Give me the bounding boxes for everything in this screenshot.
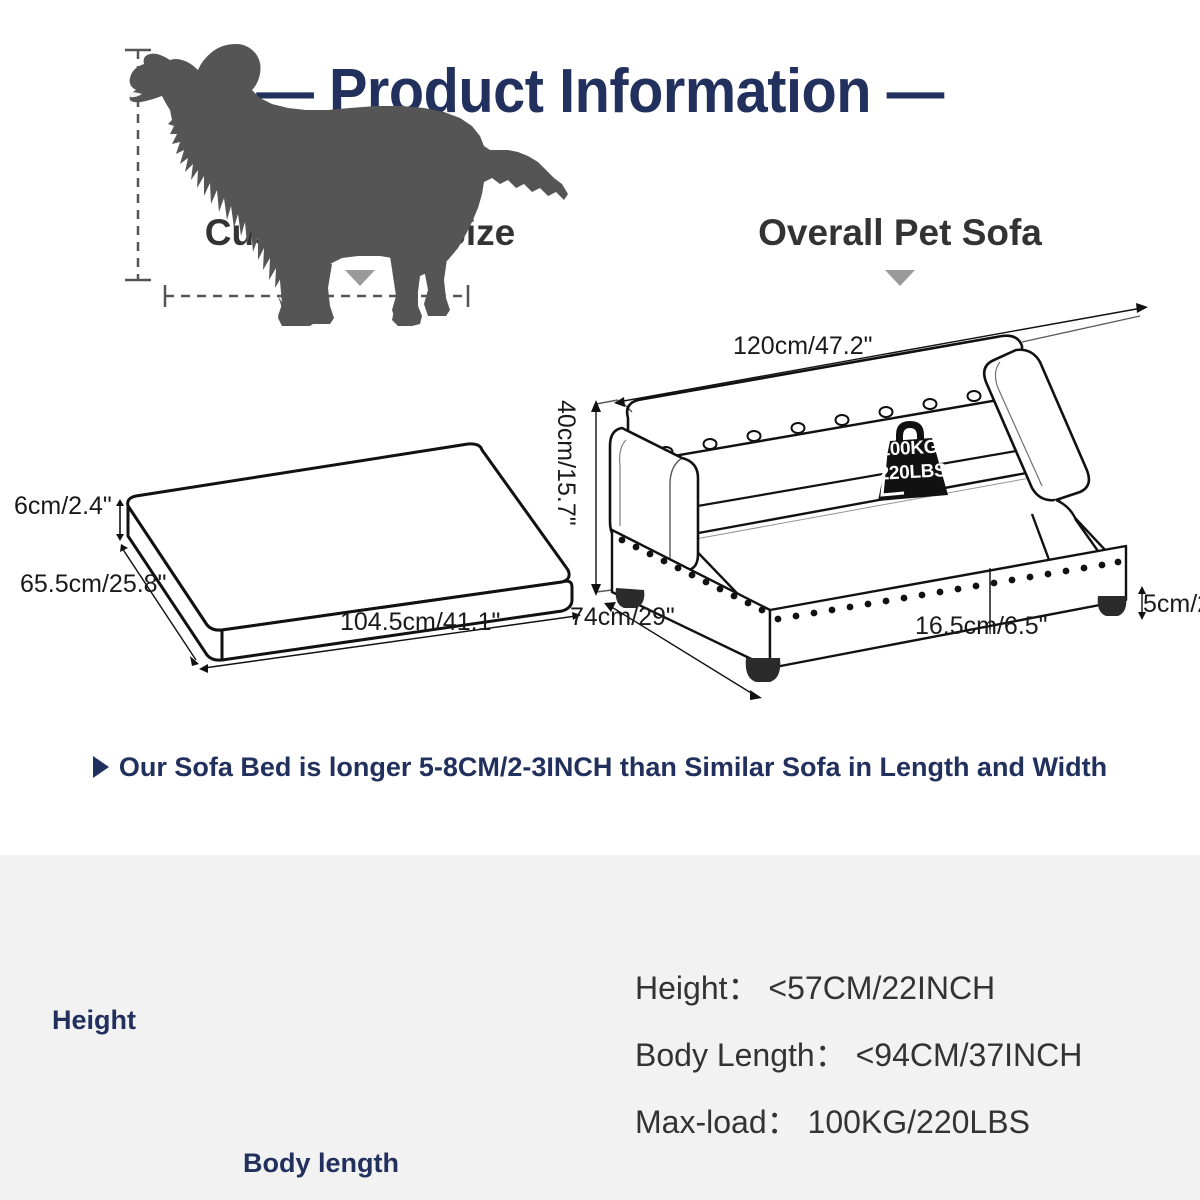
dimension-cushion-width: 65.5cm/25.8" <box>20 570 166 599</box>
dimension-cushion-length: 104.5cm/41.1" <box>340 608 500 637</box>
dimension-sofa-depth: 74cm/29" <box>570 603 675 632</box>
spec-row-max-load: Max-load： 100KG/220LBS <box>635 1089 1195 1156</box>
spec-label-body-length: Body Length： <box>635 1037 847 1073</box>
dimension-sofa-leg-height: 5cm/2" <box>1143 590 1200 619</box>
weight-tag-icon: 100KG/ 220LBS <box>862 413 962 505</box>
promo-banner: Our Sofa Bed is longer 5-8CM/2-3INCH tha… <box>0 752 1200 783</box>
dimension-sofa-top-width: 120cm/47.2" <box>733 332 873 361</box>
spec-value-body-length: <94CM/37INCH <box>856 1037 1083 1073</box>
spec-label-max-load: Max-load： <box>635 1104 799 1140</box>
spec-row-body-length: Body Length： <94CM/37INCH <box>635 1022 1195 1089</box>
dog-height-label: Height <box>52 1005 136 1036</box>
spec-label-height: Height： <box>635 970 760 1006</box>
dimension-sofa-height: 40cm/15.7" <box>551 400 580 526</box>
dimension-sofa-base-height: 16.5cm/6.5" <box>915 612 1048 641</box>
dog-body-length-label: Body length <box>243 1148 399 1179</box>
triangle-down-icon <box>885 270 915 286</box>
dimension-cushion-thickness: 6cm/2.4" <box>14 492 112 521</box>
spec-value-height: <57CM/22INCH <box>768 970 995 1006</box>
dog-silhouette-icon <box>20 8 580 338</box>
spec-row-height: Height： <57CM/22INCH <box>635 955 1195 1022</box>
spec-value-max-load: 100KG/220LBS <box>808 1104 1030 1140</box>
triangle-right-icon <box>93 756 109 778</box>
weight-tag-text: 100KG/ 220LBS <box>861 434 963 487</box>
promo-banner-text: Our Sofa Bed is longer 5-8CM/2-3INCH tha… <box>119 752 1107 782</box>
section-heading-overall-pet-sofa: Overall Pet Sofa <box>600 212 1200 254</box>
dog-spec-list: Height： <57CM/22INCH Body Length： <94CM/… <box>635 955 1195 1156</box>
